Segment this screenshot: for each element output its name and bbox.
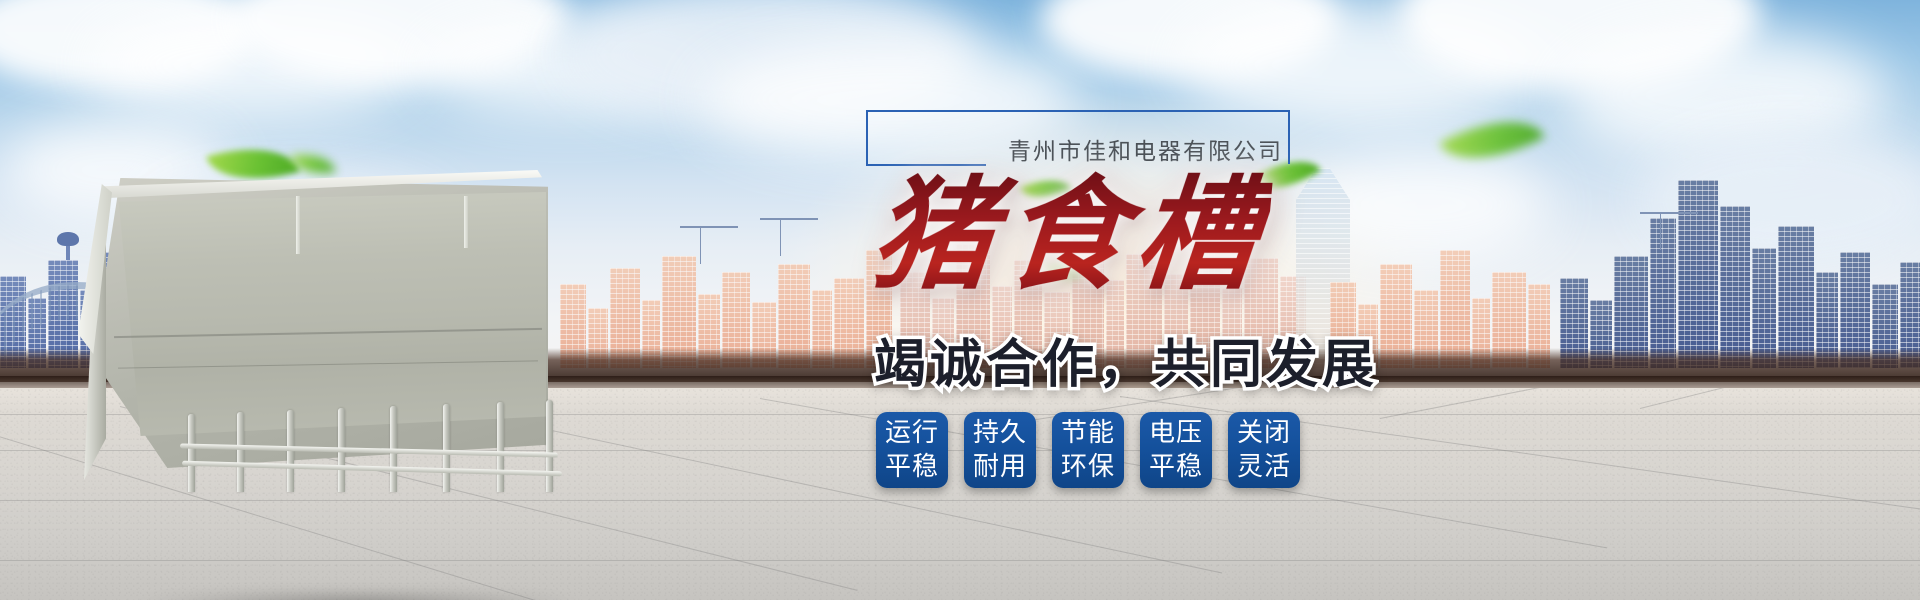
product-image-pig-feeder-trough	[78, 160, 578, 490]
feature-badge-4-line1: 电压	[1149, 416, 1203, 450]
skyline-cluster-right	[1560, 180, 1920, 368]
banner-copy: 青州市佳和电器有限公司 猪食槽 竭诚合作，共同发展 运行 平稳 持久 耐用 节能…	[860, 104, 1480, 560]
feature-badge-5-line1: 关闭	[1237, 416, 1291, 450]
company-name: 青州市佳和电器有限公司	[1008, 132, 1283, 166]
trough-rib	[296, 196, 300, 254]
trough-rib	[464, 196, 468, 248]
feature-badge-2-line1: 持久	[973, 416, 1027, 450]
divider-bar	[188, 414, 195, 492]
feature-badge-5[interactable]: 关闭 灵活	[1228, 412, 1300, 488]
construction-crane	[1660, 212, 1661, 250]
page-title: 猪食槽	[866, 170, 1273, 299]
feature-badge-4-line2: 平稳	[1149, 450, 1203, 484]
construction-crane	[700, 226, 701, 264]
feature-badge-3-line1: 节能	[1061, 416, 1115, 450]
construction-crane	[780, 218, 781, 256]
product-banner: 青州市佳和电器有限公司 猪食槽 竭诚合作，共同发展 运行 平稳 持久 耐用 节能…	[0, 0, 1920, 600]
feature-badge-1-line2: 平稳	[885, 450, 939, 484]
feature-badge-list: 运行 平稳 持久 耐用 节能 环保 电压 平稳 关闭 灵活	[876, 412, 1300, 488]
feature-badge-1-line1: 运行	[885, 416, 939, 450]
feature-badge-3[interactable]: 节能 环保	[1052, 412, 1124, 488]
divider-bar	[237, 412, 244, 492]
company-name-row: 青州市佳和电器有限公司	[860, 104, 1480, 168]
feature-badge-2[interactable]: 持久 耐用	[964, 412, 1036, 488]
feature-badge-3-line2: 环保	[1061, 450, 1115, 484]
divider-bar	[546, 400, 553, 492]
divider-bar	[443, 404, 450, 492]
product-shadow	[138, 590, 578, 600]
trough-divider-bars	[188, 396, 554, 492]
plaza-seam	[1640, 388, 1920, 409]
plaza-seam	[0, 560, 1920, 561]
feature-badge-2-line2: 耐用	[973, 450, 1027, 484]
divider-bar	[497, 402, 504, 492]
feature-badge-4[interactable]: 电压 平稳	[1140, 412, 1212, 488]
feature-badge-5-line2: 灵活	[1237, 450, 1291, 484]
feature-badge-1[interactable]: 运行 平稳	[876, 412, 948, 488]
page-subtitle: 竭诚合作，共同发展	[874, 322, 1378, 397]
